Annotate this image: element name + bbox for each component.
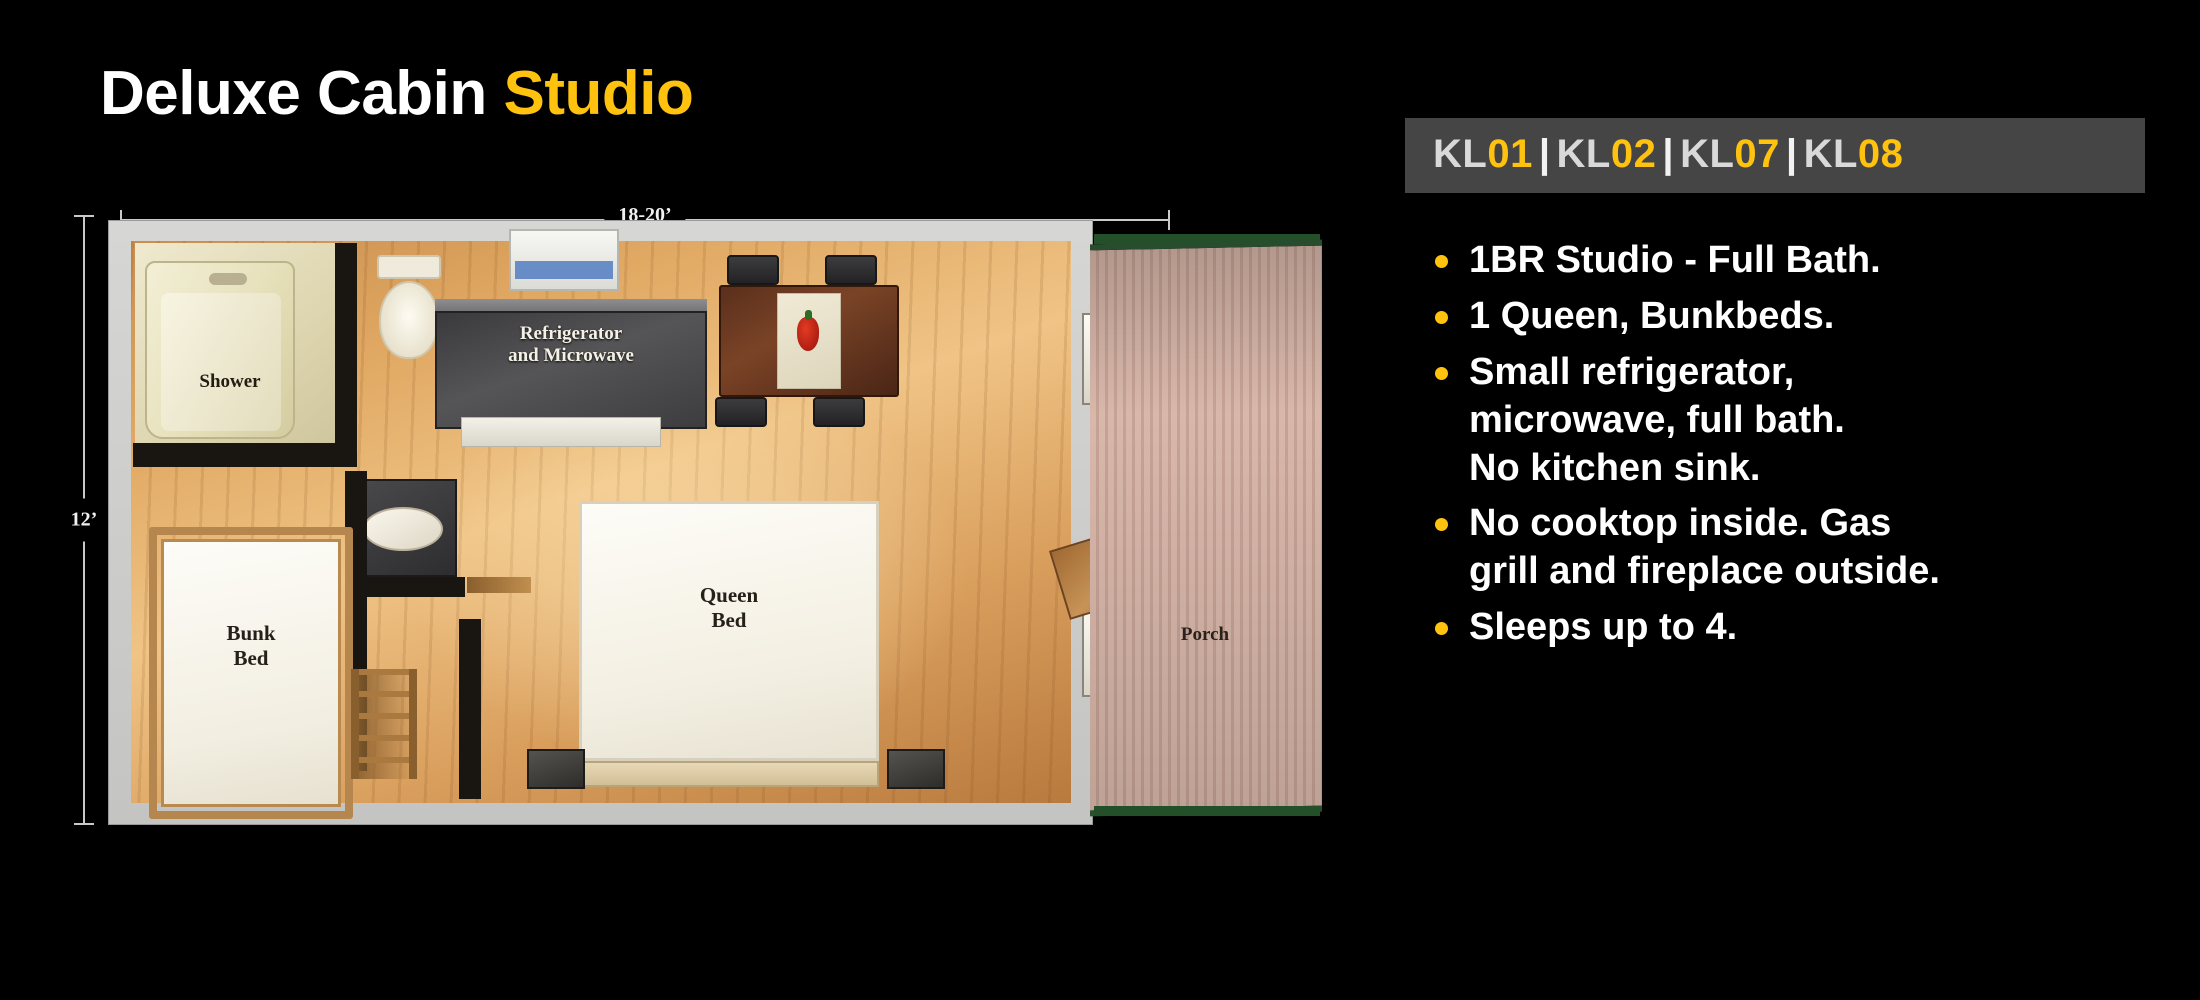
page-title: Deluxe Cabin Studio bbox=[100, 58, 693, 129]
list-item: 1 Queen, Bunkbeds. bbox=[1423, 293, 2145, 341]
unit-code-kl07: KL07 bbox=[1680, 132, 1780, 176]
unit-code-number: 08 bbox=[1858, 132, 1904, 176]
code-separator: | bbox=[1656, 132, 1680, 176]
height-dimension: 12’ bbox=[74, 215, 94, 825]
feature-line: Small refrigerator, bbox=[1469, 349, 2145, 397]
porch-rail-bottom bbox=[1094, 806, 1320, 816]
feature-line: No kitchen sink. bbox=[1469, 445, 2145, 493]
unit-code-number: 07 bbox=[1734, 132, 1780, 176]
ceiling-fixture bbox=[509, 229, 619, 291]
feature-line: microwave, full bath. bbox=[1469, 397, 2145, 445]
title-main: Deluxe Cabin bbox=[100, 59, 504, 128]
shower-tub bbox=[145, 261, 295, 439]
code-separator: | bbox=[1533, 132, 1557, 176]
appliance-unit bbox=[461, 417, 661, 447]
label-shower: Shower bbox=[155, 371, 305, 393]
unit-code-prefix: KL bbox=[1433, 132, 1487, 176]
feature-list: 1BR Studio - Full Bath. 1 Queen, Bunkbed… bbox=[1423, 237, 2145, 652]
dining-chair bbox=[825, 255, 877, 285]
label-queen-line1: Queen bbox=[700, 583, 758, 607]
interior-wall-horizontal-mid bbox=[345, 577, 465, 597]
code-separator: | bbox=[1780, 132, 1804, 176]
bullet-dot-icon bbox=[1435, 622, 1448, 635]
chili-decor-icon bbox=[797, 317, 819, 351]
unit-code-number: 01 bbox=[1487, 132, 1533, 176]
height-dimension-label: 12’ bbox=[69, 499, 100, 542]
interior-door bbox=[467, 577, 531, 593]
unit-code-band: KL01|KL02|KL07|KL08 bbox=[1405, 118, 2145, 193]
title-accent: Studio bbox=[504, 59, 694, 128]
label-refrigerator-line1: Refrigerator bbox=[520, 323, 622, 344]
bathroom-sink bbox=[363, 507, 443, 551]
dimension-cap-top bbox=[74, 215, 94, 217]
bunk-bed bbox=[161, 539, 341, 807]
label-porch: Porch bbox=[1130, 624, 1280, 646]
info-panel: KL01|KL02|KL07|KL08 1BR Studio - Full Ba… bbox=[1405, 118, 2145, 660]
bullet-dot-icon bbox=[1435, 255, 1448, 268]
bullet-dot-icon bbox=[1435, 367, 1448, 380]
label-bunk-line1: Bunk bbox=[226, 621, 275, 645]
label-refrigerator-microwave: Refrigerator and Microwave bbox=[441, 323, 701, 368]
nightstand-right bbox=[887, 749, 945, 789]
dining-chair bbox=[727, 255, 779, 285]
unit-code-prefix: KL bbox=[1804, 132, 1858, 176]
list-item: No cooktop inside. Gas grill and firepla… bbox=[1423, 500, 2145, 596]
bunk-ladder bbox=[351, 669, 417, 779]
feature-line: 1BR Studio - Full Bath. bbox=[1469, 237, 2145, 285]
slide-root: Deluxe Cabin Studio 18-20’ 12’ bbox=[0, 0, 2200, 1000]
tub-basin bbox=[161, 293, 281, 431]
interior-wall-lower bbox=[459, 619, 481, 799]
porch-decking bbox=[1090, 240, 1322, 817]
interior-wall-bath-right bbox=[335, 243, 357, 467]
cabin-plan-render: Shower Refrigerator and Microwave bbox=[108, 220, 1353, 865]
floorplan-diagram: 18-20’ 12’ Shower bbox=[60, 175, 1350, 915]
unit-code-prefix: KL bbox=[1680, 132, 1734, 176]
interior-wall-bath-bottom bbox=[133, 443, 343, 467]
list-item: Small refrigerator, microwave, full bath… bbox=[1423, 349, 2145, 493]
unit-code-kl02: KL02 bbox=[1557, 132, 1657, 176]
cabin-outer-wall: Shower Refrigerator and Microwave bbox=[108, 220, 1093, 825]
unit-code-kl01: KL01 bbox=[1433, 132, 1533, 176]
feature-line: grill and fireplace outside. bbox=[1469, 548, 2145, 596]
feature-line: Sleeps up to 4. bbox=[1469, 604, 2145, 652]
feature-line: 1 Queen, Bunkbeds. bbox=[1469, 293, 2145, 341]
label-bunk-bed: Bunk Bed bbox=[161, 621, 341, 671]
list-item: 1BR Studio - Full Bath. bbox=[1423, 237, 2145, 285]
label-queen-line2: Bed bbox=[711, 608, 746, 632]
bullet-dot-icon bbox=[1435, 518, 1448, 531]
ceiling-fixture-panel bbox=[515, 261, 613, 279]
showerhead-icon bbox=[209, 273, 247, 285]
bullet-dot-icon bbox=[1435, 311, 1448, 324]
label-queen-bed: Queen Bed bbox=[579, 583, 879, 633]
ladder-rail-left bbox=[351, 669, 359, 779]
toilet-fixture bbox=[379, 281, 439, 359]
unit-code-prefix: KL bbox=[1557, 132, 1611, 176]
unit-code-number: 02 bbox=[1611, 132, 1657, 176]
label-bunk-line2: Bed bbox=[233, 646, 268, 670]
ladder-rail-right bbox=[409, 669, 417, 779]
label-refrigerator-line2: and Microwave bbox=[508, 345, 634, 366]
nightstand-left bbox=[527, 749, 585, 789]
dining-chair bbox=[813, 397, 865, 427]
dimension-cap-bottom bbox=[74, 823, 94, 825]
toilet-tank bbox=[377, 255, 441, 279]
list-item: Sleeps up to 4. bbox=[1423, 604, 2145, 652]
unit-code-kl08: KL08 bbox=[1804, 132, 1904, 176]
queen-bed-footboard bbox=[579, 761, 879, 787]
feature-line: No cooktop inside. Gas bbox=[1469, 500, 2145, 548]
dining-chair bbox=[715, 397, 767, 427]
